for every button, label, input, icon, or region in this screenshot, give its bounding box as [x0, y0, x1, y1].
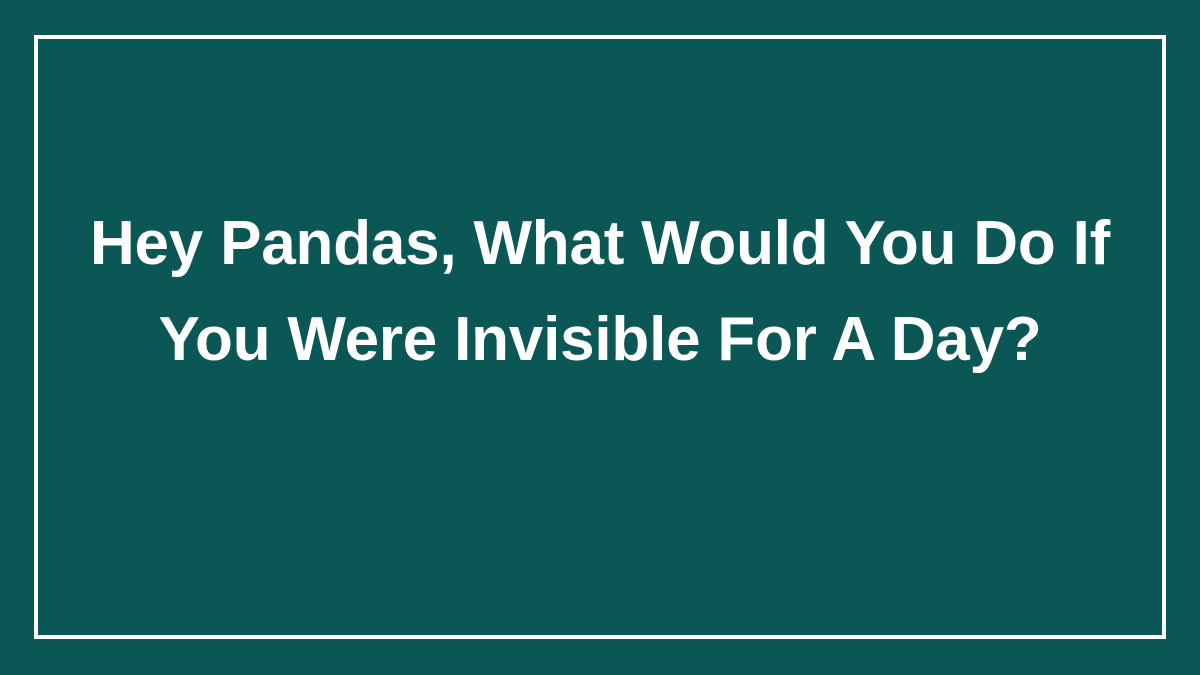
- page-title: Hey Pandas, What Would You Do If You Wer…: [70, 196, 1130, 388]
- poster-canvas: Hey Pandas, What Would You Do If You Wer…: [0, 0, 1200, 675]
- headline-block: Hey Pandas, What Would You Do If You Wer…: [70, 196, 1130, 388]
